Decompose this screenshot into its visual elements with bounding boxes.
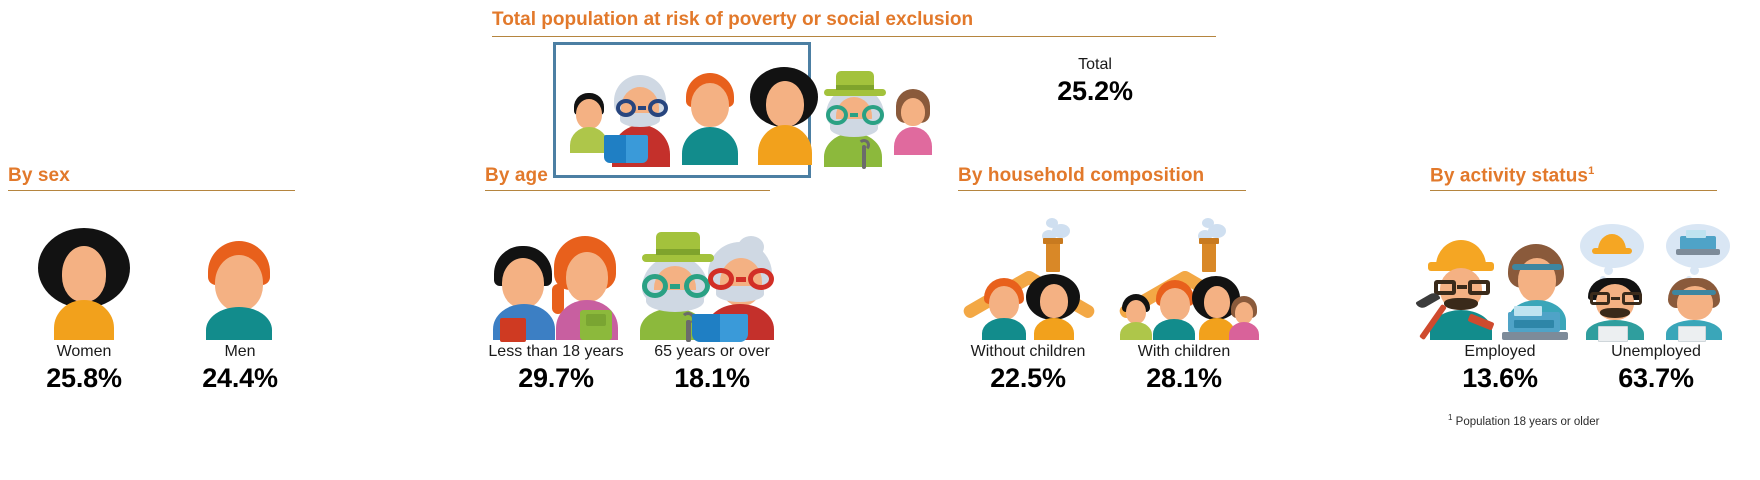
pickaxe-icon: [1416, 292, 1456, 340]
stat-cell-with-children: With children 28.1%: [1106, 228, 1262, 395]
section-underline-by-household: [958, 190, 1246, 191]
total-label: Total: [995, 55, 1195, 75]
figure-man-orange-hair: [674, 73, 746, 165]
figure-girl: [888, 89, 938, 155]
total-illustration-frame: [553, 42, 811, 178]
footnote-text: Population 18 years or older: [1452, 416, 1599, 428]
stat-label-with-children: With children: [1106, 342, 1262, 362]
section-heading-by-activity-status: By activity status1: [1430, 165, 1594, 187]
stat-label-women: Women: [6, 342, 162, 362]
glasses-icon: [616, 99, 668, 119]
roof-icon: [950, 234, 1106, 290]
stat-cell-employed: Employed 13.6%: [1422, 228, 1578, 395]
stat-value-without-children: 22.5%: [950, 362, 1106, 395]
woman-afro-icon: [6, 228, 162, 340]
stat-label-without-children: Without children: [950, 342, 1106, 362]
open-book-icon: [604, 135, 648, 165]
stat-value-65-or-over: 18.1%: [634, 362, 790, 395]
figure-elderly-woman-reading: [604, 75, 678, 167]
glasses-icon: [1590, 292, 1642, 306]
jobseekers-thought-bubbles-icon: [1578, 228, 1734, 340]
total-value: 25.2%: [995, 75, 1195, 108]
figure-elderly-man-hat-cane: [818, 71, 896, 167]
figure-woman-afro: [742, 67, 826, 165]
stat-label-65-or-over: 65 years or over: [634, 342, 790, 362]
stat-value-with-children: 28.1%: [1106, 362, 1262, 395]
stat-value-unemployed: 63.7%: [1578, 362, 1734, 395]
two-children-icon: [478, 228, 634, 340]
stat-cell-unemployed: Unemployed 63.7%: [1578, 228, 1734, 395]
house-two-adults-icon: [950, 228, 1106, 340]
red-book-icon: [500, 318, 526, 342]
section-underline-by-activity-status: [1430, 190, 1717, 191]
section-underline-by-age: [485, 190, 770, 191]
stat-cell-without-children: Without children 22.5%: [950, 228, 1106, 395]
paper-icon: [1598, 326, 1628, 342]
open-book-icon: [692, 314, 748, 344]
section-heading-by-sex: By sex: [8, 165, 70, 187]
stat-cell-less-than-18: Less than 18 years 29.7%: [478, 228, 634, 395]
stat-cell-65-or-over: 65 years or over 18.1%: [634, 228, 790, 395]
glasses-icon: [708, 268, 774, 292]
section-underline-by-sex: [8, 190, 295, 191]
stat-label-men: Men: [162, 342, 318, 362]
group-of-people-icon: [556, 45, 808, 175]
register-thought-icon: [1680, 236, 1716, 250]
page-title: Total population at risk of poverty or s…: [492, 9, 973, 31]
stat-label-employed: Employed: [1422, 342, 1578, 362]
page-title-underline: [492, 36, 1216, 37]
house-family-with-children-icon: [1106, 228, 1262, 340]
stat-label-unemployed: Unemployed: [1578, 342, 1734, 362]
total-stat: Total 25.2%: [995, 55, 1195, 108]
footnote: 1 Population 18 years or older: [1448, 413, 1600, 428]
heading-superscript: 1: [1588, 165, 1594, 177]
paper-icon: [1678, 326, 1706, 342]
glasses-icon: [642, 274, 710, 300]
stat-value-men: 24.4%: [162, 362, 318, 395]
section-heading-by-age: By age: [485, 165, 548, 187]
section-heading-by-household: By household composition: [958, 165, 1204, 187]
stat-cell-men: Men 24.4%: [162, 228, 318, 395]
stat-value-women: 25.8%: [6, 362, 162, 395]
stat-label-less-than-18: Less than 18 years: [478, 342, 634, 362]
section-heading-text: By activity status: [1430, 165, 1588, 186]
worker-and-cashier-icon: [1422, 228, 1578, 340]
elderly-couple-icon: [634, 228, 790, 340]
stat-value-employed: 13.6%: [1422, 362, 1578, 395]
cash-register-icon: [1502, 306, 1568, 340]
man-orange-hair-icon: [162, 228, 318, 340]
stat-value-less-than-18: 29.7%: [478, 362, 634, 395]
infographic-page: Total population at risk of poverty or s…: [0, 0, 1760, 480]
glasses-icon: [826, 105, 884, 127]
stat-cell-women: Women 25.8%: [6, 228, 162, 395]
